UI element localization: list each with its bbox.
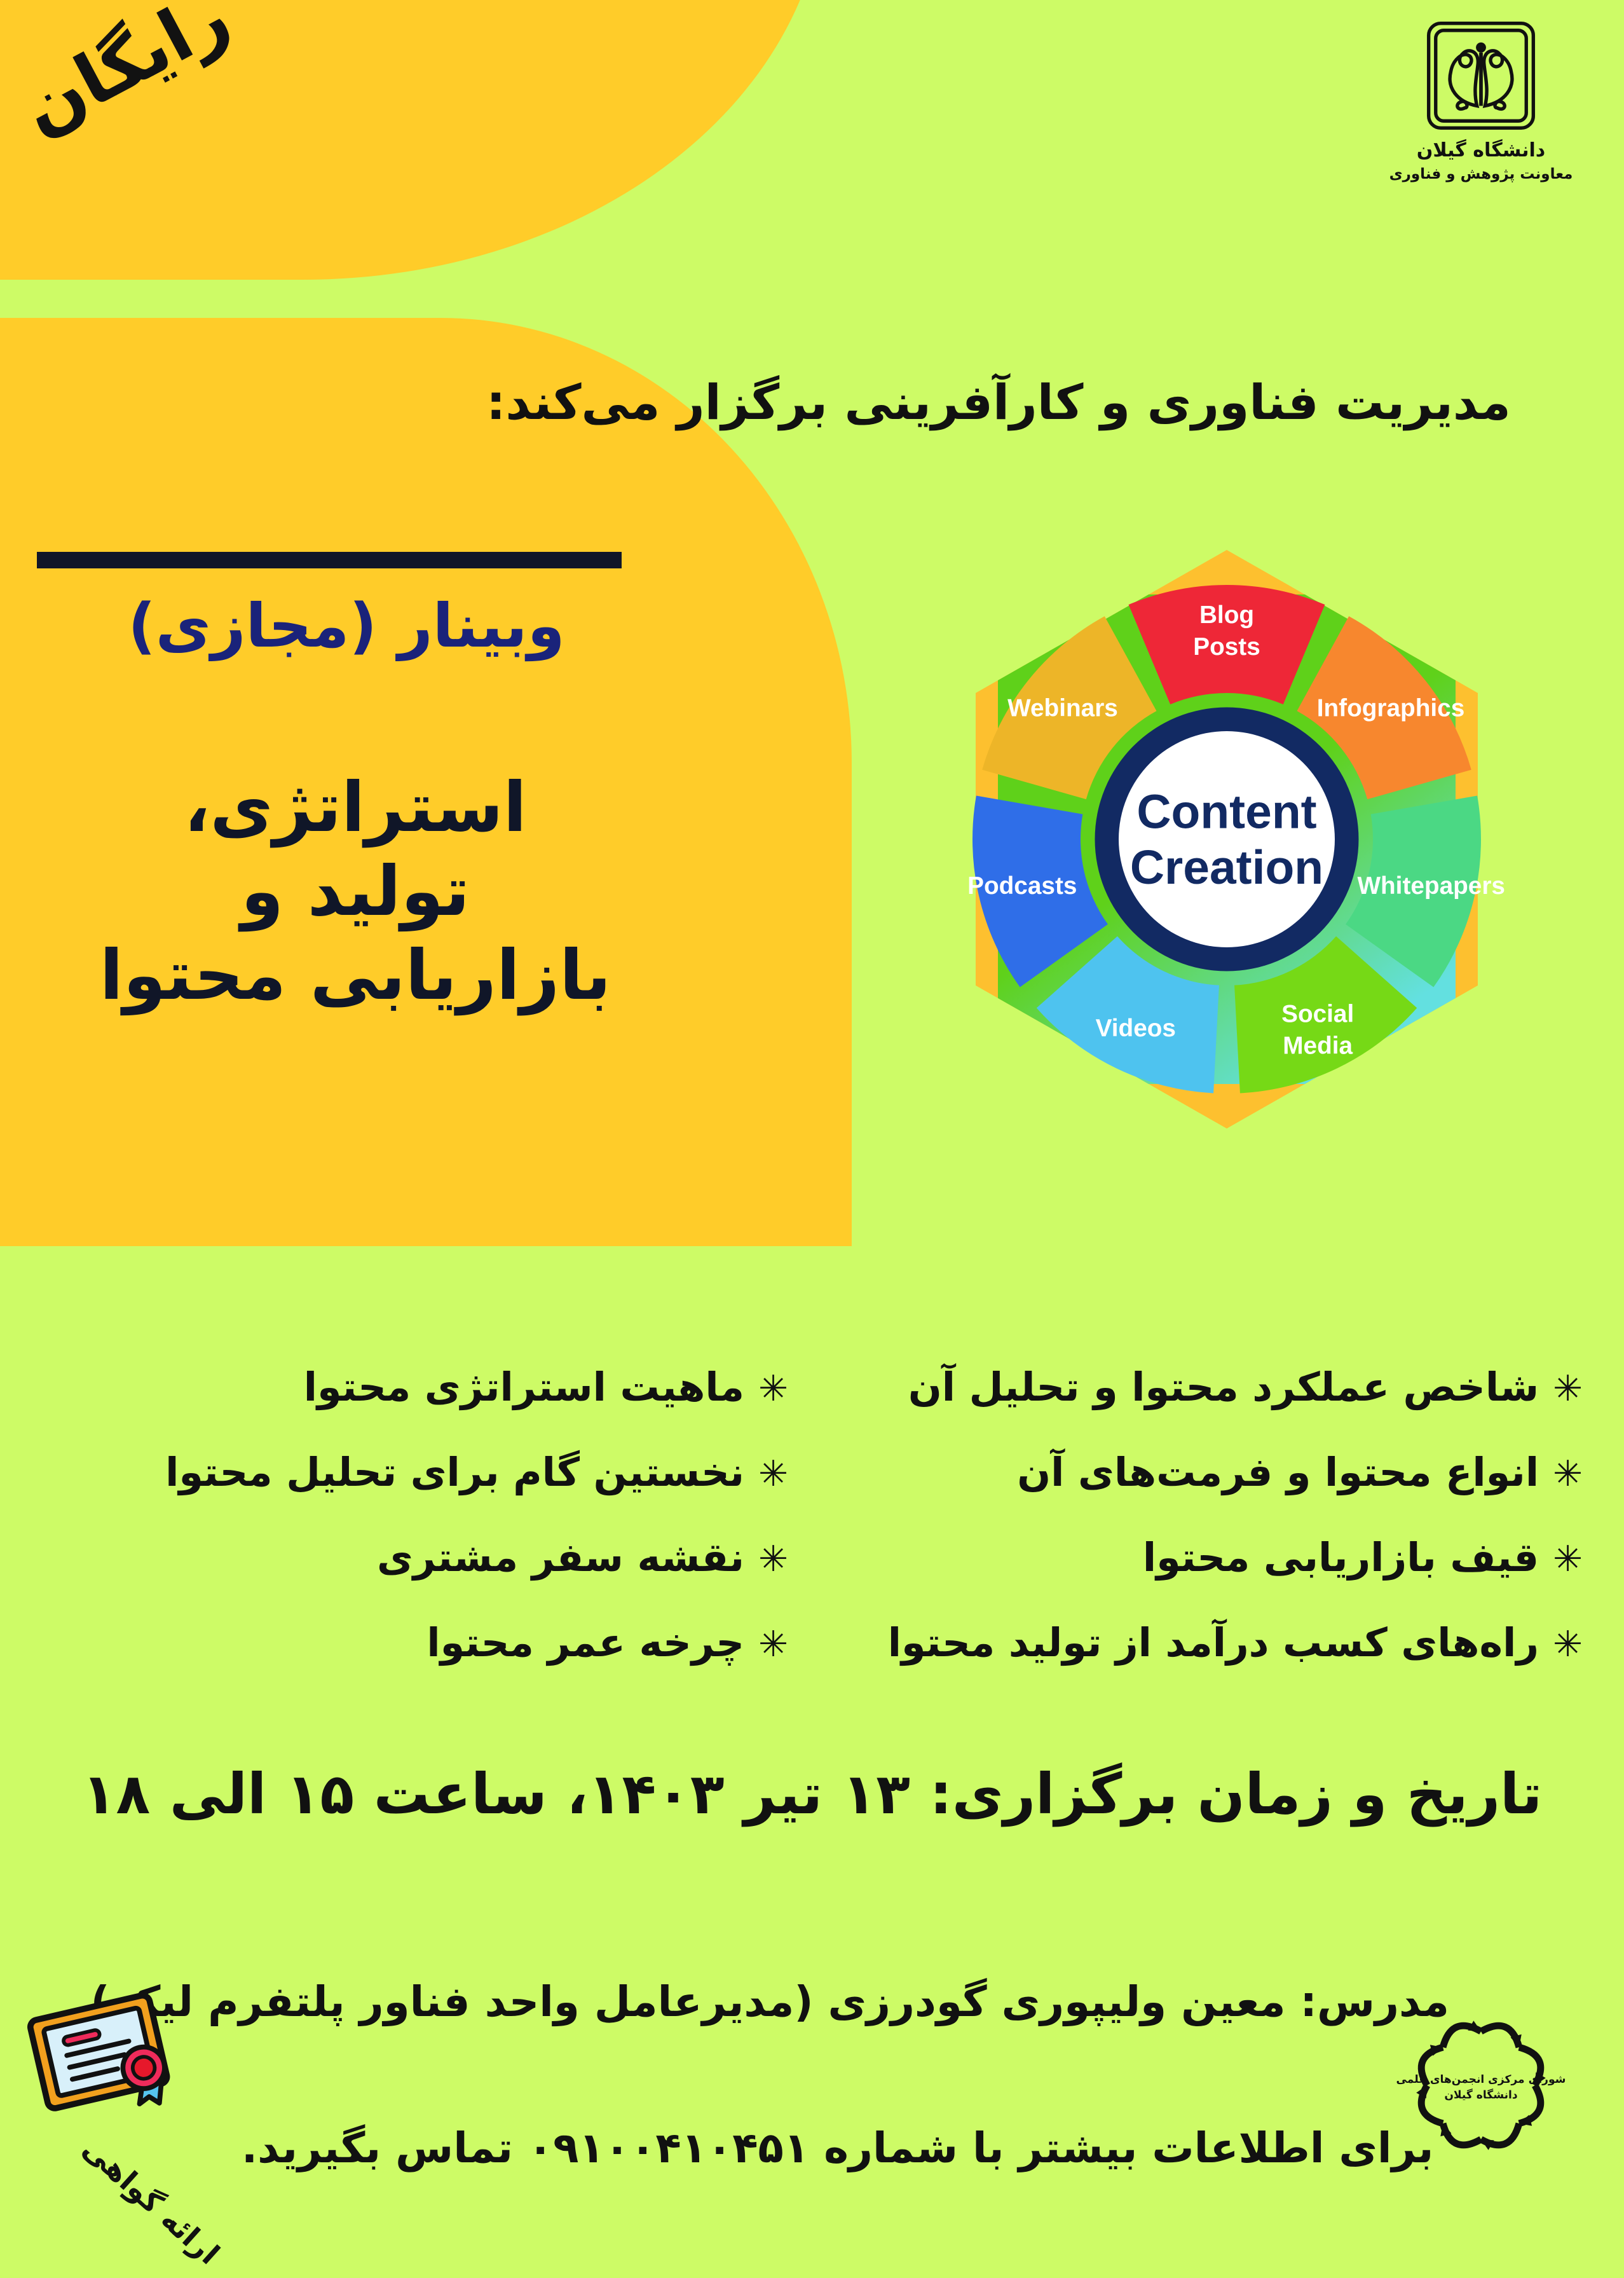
asterisk-bullet-icon: ✳ <box>1553 1627 1583 1663</box>
university-logo: دانشگاه گیلان معاونت پژوهش و فناوری <box>1376 6 1586 184</box>
instructor-line: مدرس: معین ولیپوری گودرزی (مدیرعامل واحد… <box>242 1977 1449 2026</box>
topic-label: شاخص عملکرد محتوا و تحلیل آن <box>908 1364 1539 1410</box>
asterisk-bullet-icon: ✳ <box>758 1457 788 1492</box>
title-line-2: تولید و <box>18 850 693 934</box>
contact-line: برای اطلاعات بیشتر با شماره ۰۹۱۰۰۴۱۰۴۵۱ … <box>242 2124 1449 2172</box>
asterisk-bullet-icon: ✳ <box>1553 1542 1583 1577</box>
datetime-line: تاریخ و زمان برگزاری: ۱۳ تیر ۱۴۰۳، ساعت … <box>0 1761 1624 1827</box>
asterisk-bullet-icon: ✳ <box>758 1627 788 1663</box>
university-logo-line1: دانشگاه گیلان <box>1376 139 1586 163</box>
arrow-curve <box>1481 2026 1519 2047</box>
association-logo-line1: شورای مرکزی انجمن‌های علمی <box>1396 2073 1566 2086</box>
page-title: استراتژی، تولید و بازاریابی محتوا <box>0 766 693 1017</box>
wheel-segment-label: Posts <box>1193 633 1260 661</box>
topic-item: ✳نخستین گام برای تحلیل محتوا <box>44 1449 788 1534</box>
organiser-line: مدیریت فناوری و کارآفرینی برگزار می‌کند: <box>486 374 1554 430</box>
arrow-curve <box>1519 2085 1541 2124</box>
wheel-center-line1: Content <box>1136 785 1316 839</box>
topics-list: ✳ماهیت استراتژی محتوا✳نخستین گام برای تح… <box>44 1364 1583 1705</box>
topics-column-right: ✳ماهیت استراتژی محتوا✳نخستین گام برای تح… <box>44 1364 788 1705</box>
wheel-segment-label: Blog <box>1199 601 1254 629</box>
certificate-award-icon <box>24 1984 183 2130</box>
title-block: وبینار (مجازی) استراتژی، تولید و بازاریا… <box>0 591 693 1017</box>
asterisk-bullet-icon: ✳ <box>758 1542 788 1577</box>
gilan-university-butterfly-emblem-icon <box>1421 15 1541 136</box>
asterisk-bullet-icon: ✳ <box>1553 1457 1583 1492</box>
topic-item: ✳راه‌های کسب درآمد از تولید محتوا <box>839 1619 1583 1705</box>
association-logo-line2: دانشگاه گیلان <box>1444 2089 1518 2102</box>
title-underline-rule <box>37 552 622 568</box>
topic-label: قیف بازاریابی محتوا <box>1143 1534 1539 1581</box>
wheel-segment-label: Media <box>1283 1032 1353 1059</box>
certificate-badge: ارائه گواهی <box>18 1984 272 2257</box>
asterisk-bullet-icon: ✳ <box>1553 1371 1583 1407</box>
topic-label: انواع محتوا و فرمت‌های آن <box>1017 1449 1539 1495</box>
poster-canvas: رایگان دانشگاه گیلان معاونت پژوهش و فناو… <box>0 0 1624 2278</box>
title-line-1: استراتژی، <box>18 766 693 850</box>
university-logo-line2: معاونت پژوهش و فناوری <box>1376 165 1586 184</box>
certificate-label: ارائه گواهی <box>76 2131 226 2271</box>
topic-label: چرخه عمر محتوا <box>426 1619 744 1666</box>
arrow-curve <box>1443 2124 1481 2145</box>
asterisk-bullet-icon: ✳ <box>758 1371 788 1407</box>
wheel-segment-label: Videos <box>1096 1015 1176 1042</box>
topic-item: ✳ماهیت استراتژی محتوا <box>44 1364 788 1449</box>
content-creation-wheel: Content Creation BlogPostsInfographicsWh… <box>909 521 1545 1157</box>
wheel-segment-label: Social <box>1281 1000 1354 1027</box>
wheel-center-line2: Creation <box>1130 841 1323 894</box>
webinar-kind-label: وبینار (مجازی) <box>0 591 693 661</box>
wheel-hub-fill <box>1119 731 1335 947</box>
wheel-segment-label: Podcasts <box>967 872 1077 900</box>
topic-item: ✳شاخص عملکرد محتوا و تحلیل آن <box>839 1364 1583 1449</box>
association-logo: شورای مرکزی انجمن‌های علمی دانشگاه گیلان <box>1389 2003 1573 2168</box>
topic-label: راه‌های کسب درآمد از تولید محتوا <box>888 1619 1539 1666</box>
wheel-segment-label: Webinars <box>1007 695 1118 722</box>
topics-column-left: ✳شاخص عملکرد محتوا و تحلیل آن✳انواع محتو… <box>839 1364 1583 1705</box>
topic-label: نقشه سفر مشتری <box>377 1534 744 1581</box>
wheel-segment-label: Whitepapers <box>1357 872 1505 900</box>
topic-item: ✳نقشه سفر مشتری <box>44 1534 788 1619</box>
topic-item: ✳قیف بازاریابی محتوا <box>839 1534 1583 1619</box>
topic-item: ✳چرخه عمر محتوا <box>44 1619 788 1705</box>
topic-label: نخستین گام برای تحلیل محتوا <box>165 1449 744 1495</box>
topic-item: ✳انواع محتوا و فرمت‌های آن <box>839 1449 1583 1534</box>
topic-label: ماهیت استراتژی محتوا <box>304 1364 744 1410</box>
title-line-3: بازاریابی محتوا <box>18 934 693 1018</box>
wheel-segment-label: Infographics <box>1317 695 1465 722</box>
